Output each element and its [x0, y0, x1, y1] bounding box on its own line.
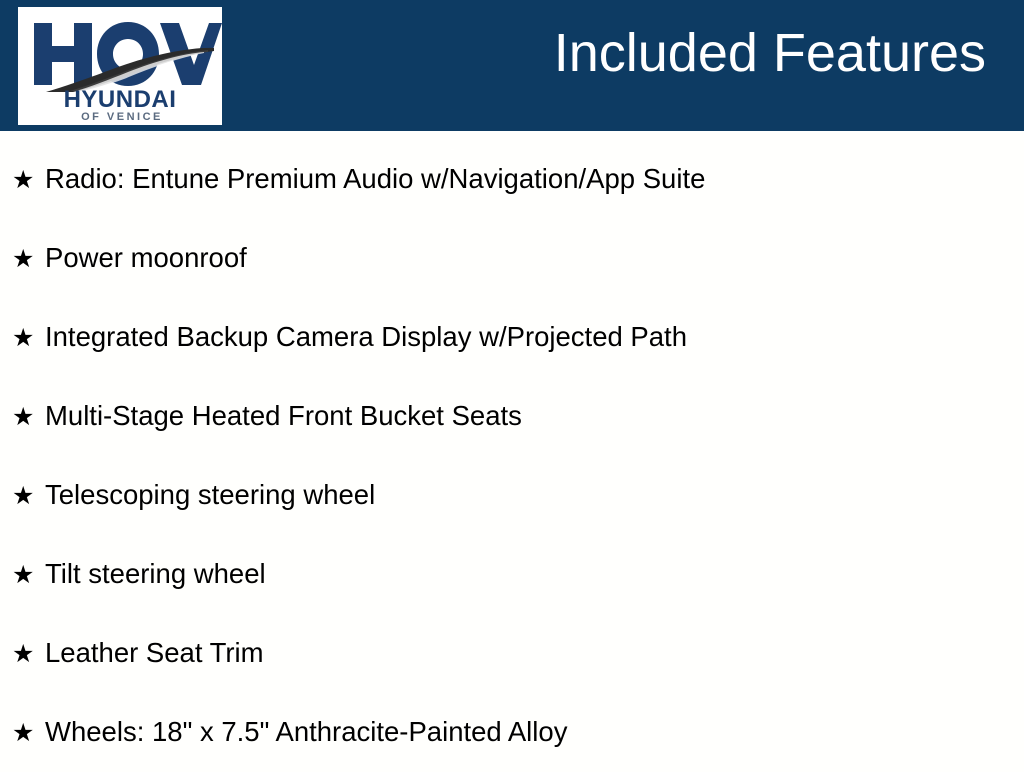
star-bullet-icon: ★ [12, 167, 45, 192]
hov-hyundai-logo-icon: HYUNDAI OF VENICE [18, 7, 222, 125]
page-title: Included Features [554, 26, 986, 80]
svg-text:OF VENICE: OF VENICE [81, 111, 163, 123]
list-item: ★ Telescoping steering wheel [0, 456, 1024, 535]
feature-label: Power moonroof [45, 243, 247, 273]
feature-label: Leather Seat Trim [45, 638, 264, 668]
list-item: ★ Radio: Entune Premium Audio w/Navigati… [0, 140, 1024, 219]
feature-label: Multi-Stage Heated Front Bucket Seats [45, 401, 522, 431]
feature-label: Wheels: 18" x 7.5" Anthracite-Painted Al… [45, 717, 567, 747]
feature-label: Integrated Backup Camera Display w/Proje… [45, 322, 687, 352]
list-item: ★ Integrated Backup Camera Display w/Pro… [0, 298, 1024, 377]
slide-header: HYUNDAI OF VENICE Included Features [0, 0, 1024, 131]
star-bullet-icon: ★ [12, 562, 45, 587]
dealer-logo: HYUNDAI OF VENICE [18, 7, 222, 125]
list-item: ★ Multi-Stage Heated Front Bucket Seats [0, 377, 1024, 456]
list-item: ★ Wheels: 18" x 7.5" Anthracite-Painted … [0, 693, 1024, 772]
list-item: ★ Tilt steering wheel [0, 535, 1024, 614]
star-bullet-icon: ★ [12, 720, 45, 745]
star-bullet-icon: ★ [12, 483, 45, 508]
star-bullet-icon: ★ [12, 246, 45, 271]
slide: HYUNDAI OF VENICE Included Features ★ Ra… [0, 0, 1024, 768]
star-bullet-icon: ★ [12, 325, 45, 350]
svg-text:HYUNDAI: HYUNDAI [64, 86, 177, 113]
list-item: ★ Leather Seat Trim [0, 614, 1024, 693]
star-bullet-icon: ★ [12, 641, 45, 666]
feature-label: Tilt steering wheel [45, 559, 266, 589]
list-item: ★ Power moonroof [0, 219, 1024, 298]
star-bullet-icon: ★ [12, 404, 45, 429]
feature-label: Radio: Entune Premium Audio w/Navigation… [45, 164, 705, 194]
included-features-list: ★ Radio: Entune Premium Audio w/Navigati… [0, 131, 1024, 768]
feature-label: Telescoping steering wheel [45, 480, 375, 510]
